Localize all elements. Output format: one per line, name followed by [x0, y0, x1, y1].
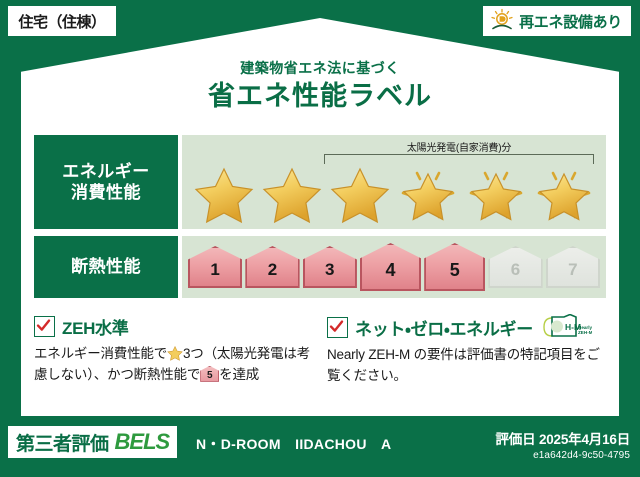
category-tab-label: 住宅（住棟） [18, 11, 105, 32]
criterion-net-zero-energy: ネット・ゼロ・エネルギー H-M Nearly ZEH-M Nearly ZEH… [327, 314, 606, 387]
grade-block: 3 [303, 246, 357, 288]
solar-generation-bracket: 太陽光発電(自家消費)分 [320, 139, 598, 165]
sun-solar-icon [489, 8, 515, 34]
inline-grade-label: 5 [201, 371, 218, 381]
insulation-grade-scale: 1 2 3 4 5 6 7 [182, 236, 606, 298]
star-icon [261, 163, 323, 225]
evaluation-date-value: 2025年4月16日 [539, 432, 630, 447]
inline-star-icon [167, 345, 183, 361]
grade-label: 7 [568, 261, 577, 278]
insulation-performance-row: 断熱性能 1 2 3 4 5 6 7 [34, 236, 606, 298]
grade-block: 5 [424, 243, 485, 291]
desc-part-1: エネルギー消費性能で [34, 346, 167, 361]
star-icon-sparkle [465, 163, 527, 225]
bels-badge: 第三者評価 BELS [8, 426, 177, 458]
criteria-section: ZEH水準 エネルギー消費性能で3つ（太陽光発電は考慮しない）、かつ断熱性能で5… [34, 314, 606, 387]
energy-performance-value: 太陽光発電(自家消費)分 [182, 135, 606, 229]
criterion-title: ZEH水準 [62, 314, 129, 339]
criterion-zeh-standard: ZEH水準 エネルギー消費性能で3つ（太陽光発電は考慮しない）、かつ断熱性能で5… [34, 314, 313, 387]
bels-en-label: BELS [115, 429, 170, 455]
grade-label: 2 [268, 261, 277, 278]
grade-label: 5 [450, 261, 460, 279]
inline-grade-house-icon: 5 [200, 366, 219, 382]
criterion-description: Nearly ZEH-M の要件は評価書の特記項目をご覧ください。 [327, 345, 606, 387]
evaluation-date: 評価日 2025年4月16日 [495, 428, 630, 448]
grade-block: 4 [360, 243, 421, 291]
page-title: 建築物省エネ法に基づく 省エネ性能ラベル [21, 60, 619, 114]
insulation-performance-key: 断熱性能 [34, 236, 178, 298]
desc-part-3: を達成 [219, 367, 259, 382]
evaluation-id: e1a642d4-9c50-4795 [495, 450, 630, 461]
criterion-header: ZEH水準 [34, 314, 313, 339]
footer-bar: 第三者評価 BELS N・D-ROOM IIDACHOU A 評価日 2025年… [0, 416, 640, 477]
logo-sub-zehm: ZEH-M [578, 330, 592, 335]
grade-block: 1 [188, 246, 242, 288]
category-tab: 住宅（住棟） [8, 6, 116, 36]
building-name: N・D-ROOM IIDACHOU A [196, 434, 391, 454]
checkbox-checked[interactable] [34, 316, 55, 337]
grade-label: 6 [511, 261, 520, 278]
energy-performance-row: エネルギー 消費性能 太陽光発電(自家消費)分 [34, 135, 606, 229]
solar-bracket-label: 太陽光発電(自家消費)分 [320, 139, 598, 154]
grade-label: 4 [386, 261, 396, 279]
energy-key-line1: エネルギー [62, 161, 150, 182]
title-main: 省エネ性能ラベル [21, 80, 619, 114]
energy-star-rating [182, 163, 606, 225]
zeh-m-house-logo: H-M Nearly ZEH-M [540, 314, 592, 340]
star-icon-sparkle [397, 163, 459, 225]
grade-label: 3 [325, 261, 334, 278]
grade-block: 2 [245, 246, 299, 288]
energy-key-line2: 消費性能 [71, 182, 141, 203]
insulation-performance-value: 1 2 3 4 5 6 7 [182, 236, 606, 298]
star-icon [329, 163, 391, 225]
evaluation-date-label: 評価日 [495, 432, 535, 447]
grade-block: 7 [546, 246, 600, 288]
renewable-badge-label: 再エネ設備あり [519, 11, 622, 32]
energy-performance-label: 住宅（住棟） 再エネ設備あり 建築物省エネ法に基づく 省エネ性能ラベル [0, 0, 640, 477]
grade-label: 1 [210, 261, 219, 278]
check-icon [36, 318, 51, 333]
criterion-description: エネルギー消費性能で3つ（太陽光発電は考慮しない）、かつ断熱性能で5を達成 [34, 344, 313, 386]
bels-jp-label: 第三者評価 [16, 429, 109, 456]
check-icon [329, 319, 344, 334]
grade-block: 6 [488, 246, 542, 288]
star-icon-sparkle [533, 163, 595, 225]
evaluation-info: 評価日 2025年4月16日 e1a642d4-9c50-4795 [495, 428, 630, 461]
star-icon [193, 163, 255, 225]
criterion-title: ネット・ゼロ・エネルギー [355, 315, 533, 340]
energy-performance-key: エネルギー 消費性能 [34, 135, 178, 229]
title-subtitle: 建築物省エネ法に基づく [21, 60, 619, 77]
insulation-key-label: 断熱性能 [71, 256, 141, 277]
checkbox-checked[interactable] [327, 317, 348, 338]
criterion-header: ネット・ゼロ・エネルギー H-M Nearly ZEH-M [327, 314, 606, 340]
renewable-energy-badge: 再エネ設備あり [483, 6, 631, 36]
